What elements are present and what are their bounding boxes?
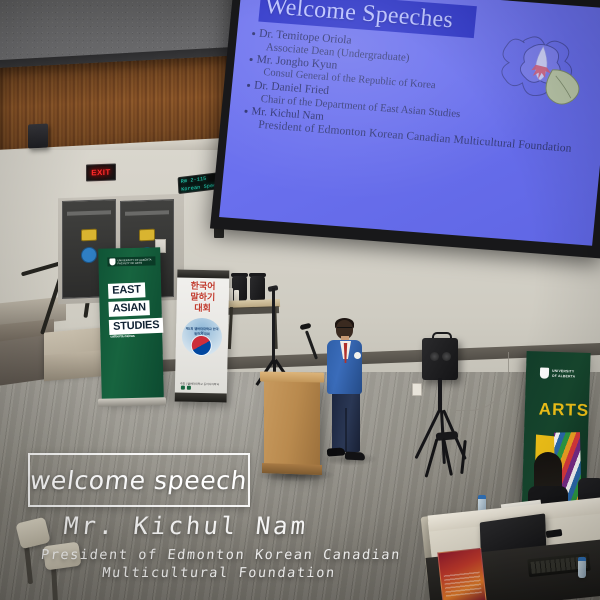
speaker-shoe [327,447,346,456]
caption-title-box: welcome speech [28,453,250,507]
accessibility-icon [81,247,97,264]
projection-screen: Welcome Speeches Dr. Temitope Oriola Ass… [210,0,600,258]
coffee-urn [250,276,265,301]
taegeuk-symbol-icon [192,336,211,355]
pa-driver-icon [430,352,439,361]
exit-sign: EXIT [86,163,116,181]
door-room-sign [81,229,97,242]
speaker-glasses [337,327,352,331]
caption-title: welcome speech [29,466,250,495]
uofa-logo: UNIVERSITY OF ALBERTA [540,367,576,379]
uofa-shield-icon [109,258,115,265]
projected-slide: Welcome Speeches Dr. Temitope Oriola Ass… [219,0,600,246]
banner-top-rail [177,269,229,278]
banner-bottom-rail [175,392,227,402]
banner-word-east: EAST [108,282,145,299]
photo-scene: EXIT Rm 2-115 Korean Speech Contest Welc… [0,0,600,600]
podium-base [262,463,322,475]
banner-korean-speech-contest: 한국어 말하기 대회 제1회 앨버타대학교 한국어 말하기 대회 주최 | 앨버… [175,269,230,402]
banner-emblem-circle: 제1회 앨버타대학교 한국어 말하기 대회 [182,318,223,357]
uofa-logo-strip: UNIVERSITY OF ALBERTA FACULTY OF ARTS [107,256,155,266]
pa-driver-icon [442,352,451,361]
uofa-shield-icon [540,367,549,378]
door-push-bar [67,210,111,216]
banner-org-line2: FACULTY OF ARTS [117,261,151,265]
sponsor-logo-icon [181,386,185,390]
banner-stand-base [98,397,166,407]
mic-stand-pole [272,288,275,364]
caption-speaker-role: President of Edmonton Korean Canadian Mu… [8,546,432,582]
water-bottle [578,560,586,578]
desk-poster [437,548,486,600]
ceiling-speaker [28,123,48,148]
wall-outlet [412,383,422,396]
speaker-leg-gap [345,408,347,452]
caption-speaker-name: Mr. Kichul Nam [35,512,338,540]
bottle-cap [578,557,586,561]
bottle-cap [478,495,486,499]
caption-role-line1: President of Edmonton Korean Canadian [10,546,432,564]
podium-top-surface [260,371,324,382]
podium [264,377,320,475]
arts-word: ARTS [539,399,590,421]
pa-speaker [422,338,458,380]
caption-role-line2: Multicultural Foundation [8,564,430,582]
banner-heading-line3: 대회 [176,303,228,315]
arts-org-line2: OF ALBERTA [552,373,576,378]
banner-word-asian: ASIAN [108,300,150,317]
sponsor-logo-icon [187,386,191,390]
speaker-stand-pole [438,378,442,412]
banner-word-studies: STUDIES [109,318,164,335]
speaker-shoe [345,451,365,460]
door-room-sign [139,229,155,242]
speaker-lapel-flower [354,352,361,359]
banner-east-asian-studies: UNIVERSITY OF ALBERTA FACULTY OF ARTS EA… [98,247,164,400]
banner-url: ualberta.ca/eas [110,334,135,339]
door-push-bar [125,210,169,216]
